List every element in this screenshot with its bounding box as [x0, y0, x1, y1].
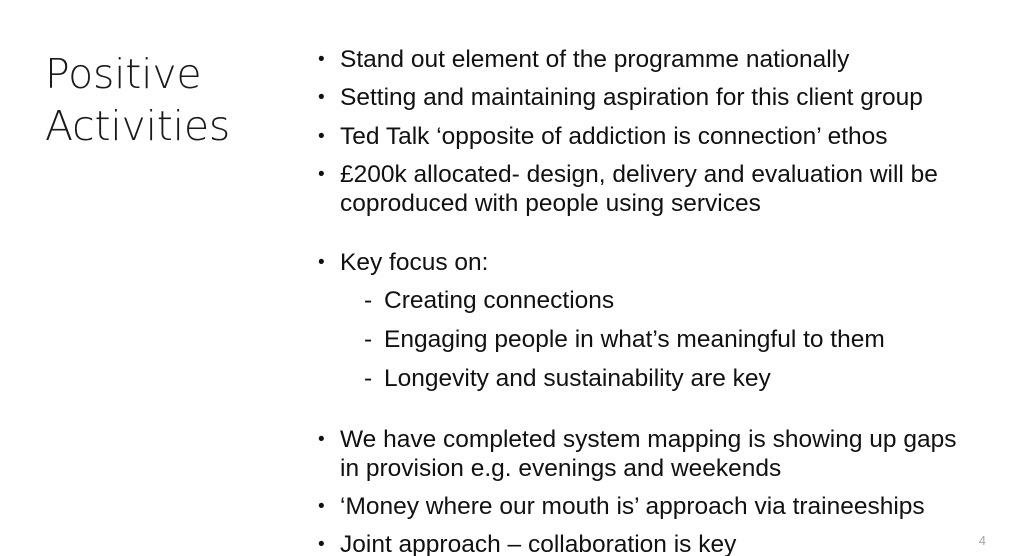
sub-bullet-item: - Engaging people in what’s meaningful t… — [364, 326, 978, 355]
group-spacer — [318, 404, 978, 426]
dash-marker-icon: - — [364, 365, 384, 394]
bullet-marker-icon: • — [318, 123, 340, 152]
dash-marker-icon: - — [364, 287, 384, 316]
dash-marker-icon: - — [364, 326, 384, 355]
bullet-marker-icon: • — [318, 426, 340, 455]
slide-title: Positive Activities — [45, 48, 295, 153]
bullet-text: Joint approach – collaboration is key — [340, 531, 978, 556]
bullet-text: ‘Money where our mouth is’ approach via … — [340, 493, 978, 522]
bullet-text: Stand out element of the programme natio… — [340, 46, 978, 75]
slide-body: • Stand out element of the programme nat… — [318, 46, 978, 556]
presentation-slide: Positive Activities • Stand out element … — [0, 0, 1023, 556]
sub-bullet-text: Engaging people in what’s meaningful to … — [384, 326, 978, 355]
bullet-item: • £200k allocated- design, delivery and … — [318, 161, 978, 219]
bullet-marker-icon: • — [318, 46, 340, 75]
bullet-text: We have completed system mapping is show… — [340, 426, 978, 484]
bullet-text: £200k allocated- design, delivery and ev… — [340, 161, 978, 219]
bullet-item: • Ted Talk ‘opposite of addiction is con… — [318, 123, 978, 152]
bullet-marker-icon: • — [318, 249, 340, 278]
bullet-item: • Stand out element of the programme nat… — [318, 46, 978, 75]
bullet-text: Ted Talk ‘opposite of addiction is conne… — [340, 123, 978, 152]
bullet-item: • ‘Money where our mouth is’ approach vi… — [318, 493, 978, 522]
bullet-item: • Setting and maintaining aspiration for… — [318, 84, 978, 113]
bullet-marker-icon: • — [318, 493, 340, 522]
sub-bullet-text: Longevity and sustainability are key — [384, 365, 978, 394]
sub-bullet-item: - Creating connections — [364, 287, 978, 316]
bullet-marker-icon: • — [318, 84, 340, 113]
bullet-marker-icon: • — [318, 531, 340, 556]
bullet-item: • Joint approach – collaboration is key — [318, 531, 978, 556]
bullet-item: • Key focus on: — [318, 249, 978, 278]
bullet-text: Key focus on: — [340, 249, 978, 278]
sub-bullet-text: Creating connections — [384, 287, 978, 316]
bullet-group-3: • We have completed system mapping is sh… — [318, 426, 978, 556]
bullet-group-1: • Stand out element of the programme nat… — [318, 46, 978, 219]
bullet-item: • We have completed system mapping is sh… — [318, 426, 978, 484]
group-spacer — [318, 229, 978, 249]
bullet-group-2: • Key focus on: - Creating connections -… — [318, 249, 978, 394]
bullet-text: Setting and maintaining aspiration for t… — [340, 84, 978, 113]
bullet-marker-icon: • — [318, 161, 340, 190]
sub-bullet-item: - Longevity and sustainability are key — [364, 365, 978, 394]
page-number: 4 — [979, 533, 986, 548]
